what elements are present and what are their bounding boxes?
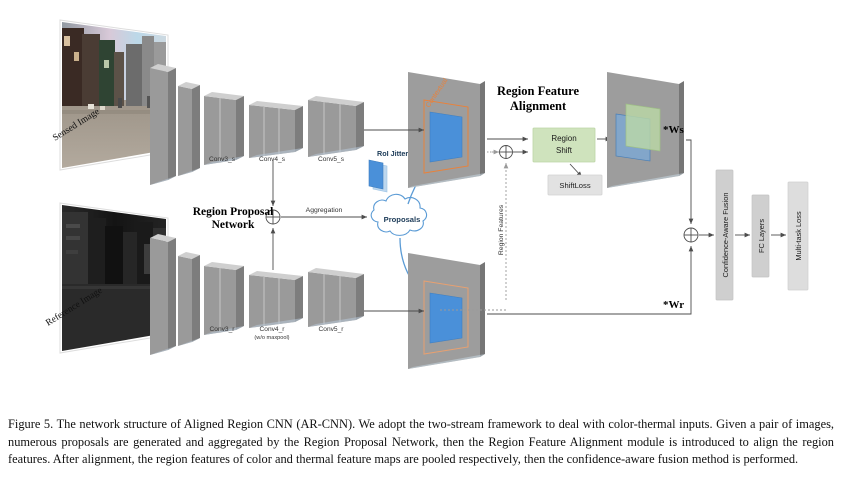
multi-task-loss-label: Multi-task Loss	[794, 211, 803, 261]
conv4-r-sublabel: (w/o maxpool)	[254, 335, 289, 341]
figure-caption: Figure 5. The network structure of Align…	[8, 416, 834, 467]
conv3-s-label: Conv3_s	[209, 156, 236, 163]
conv5-r-label: Conv5_r	[319, 326, 345, 333]
weight-sensed-label: *Ws	[663, 124, 685, 136]
rfa-title-line1: Region Feature	[497, 84, 579, 98]
aggregation-label: Aggregation	[306, 207, 343, 214]
backbone-sensed: Conv3_s Conv4_s Conv5_s	[150, 64, 364, 185]
region-shift-line2: Shift	[556, 146, 573, 155]
reference-feature-map-panel	[364, 253, 485, 369]
backbone-reference: Conv3_r Conv4_r (w/o maxpool) Conv5_r	[150, 234, 364, 355]
conv4-r-label: Conv4_r	[260, 326, 286, 333]
region-proposal-network-group: Region Proposal Network Aggregation	[193, 160, 367, 270]
figure-diagram: Sensed Image Reference Image	[0, 0, 843, 380]
fc-layers-label: FC Layers	[757, 219, 766, 253]
region-shift-line1: Region	[551, 134, 576, 143]
region-features-label: Region Features	[498, 204, 505, 255]
conv3-r-label: Conv3_r	[210, 326, 236, 333]
proposals-label: Proposals	[384, 215, 421, 224]
conv5-s-label: Conv5_s	[318, 156, 345, 163]
rpn-title-line1: Region Proposal	[193, 206, 274, 218]
rpn-title-line2: Network	[212, 219, 255, 231]
network-architecture-svg: Sensed Image Reference Image	[0, 0, 843, 380]
rfa-title-line2: Alignment	[510, 99, 567, 113]
shift-loss-label: ShiftLoss	[559, 181, 590, 190]
conv4-s-label: Conv4_s	[259, 156, 286, 163]
confidence-aware-fusion-label: Confidence-Aware Fusion	[721, 193, 730, 278]
weight-reference-label: *Wr	[663, 299, 684, 311]
